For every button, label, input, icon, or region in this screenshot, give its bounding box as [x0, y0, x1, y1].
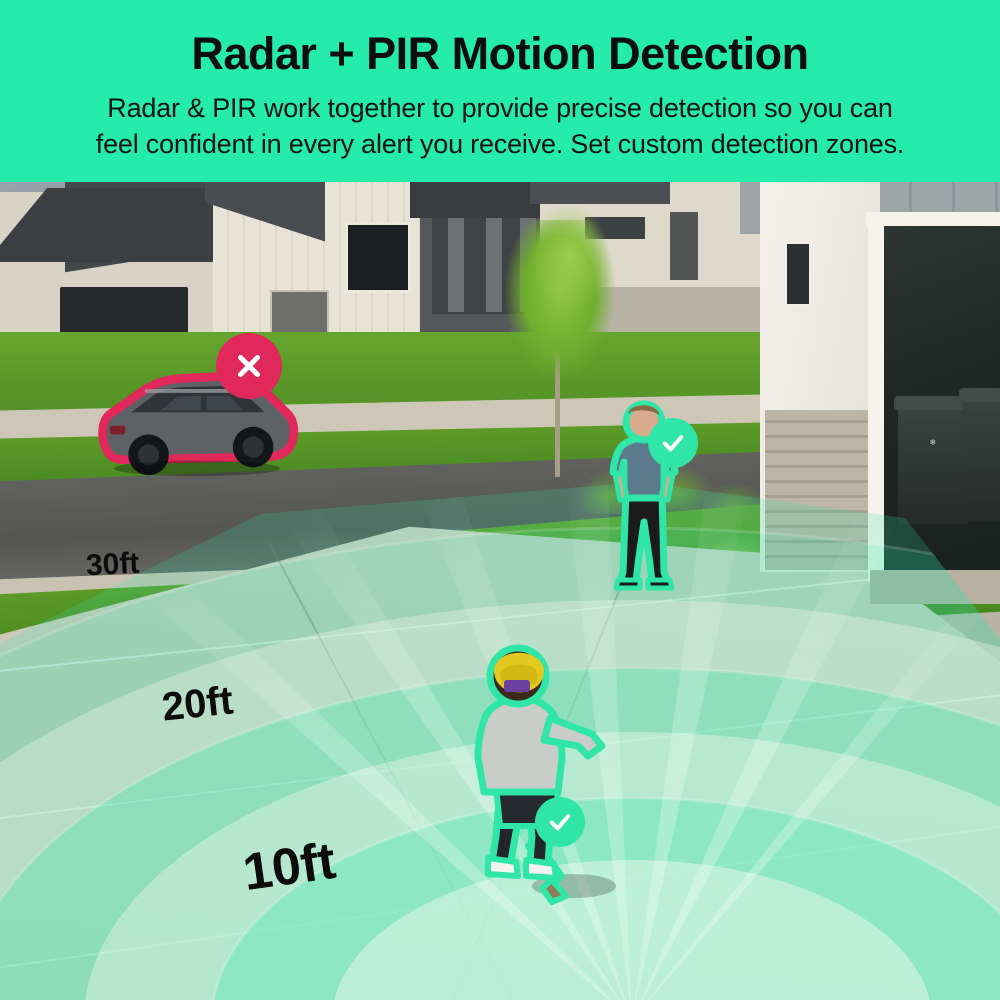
garage-door-header: [866, 212, 1000, 226]
house-middle-window: [345, 222, 411, 293]
trash-bin-lid-2: [959, 388, 1000, 402]
distance-label-20ft: 20ft: [160, 678, 235, 730]
page-title: Radar + PIR Motion Detection: [0, 28, 1000, 80]
porch-column-1: [448, 212, 464, 312]
person-child-outline: [466, 640, 618, 920]
accepted-badge-person-adult[interactable]: [648, 418, 698, 468]
tree-canopy-upper: [530, 202, 610, 312]
distance-label-10ft: 10ft: [239, 831, 339, 903]
camera-scene: ❄: [0, 182, 1000, 1000]
house-far-right-door: [670, 212, 698, 280]
rejected-badge-vehicle[interactable]: [216, 333, 282, 399]
bin-logo-1: ❄: [898, 438, 968, 448]
promo-graphic: Radar + PIR Motion Detection Radar & PIR…: [0, 0, 1000, 1000]
header-banner: Radar + PIR Motion Detection Radar & PIR…: [0, 0, 1000, 182]
garage-stone-veneer: [765, 410, 870, 570]
wall-sconce: [785, 242, 811, 306]
subtitle-line-1: Radar & PIR work together to provide pre…: [18, 90, 982, 126]
page-subtitle: Radar & PIR work together to provide pre…: [18, 90, 982, 162]
subtitle-line-2: feel confident in every alert you receiv…: [18, 126, 982, 162]
house-far-right-roof: [530, 182, 670, 204]
detected-person-child[interactable]: [466, 640, 618, 918]
check-icon: [546, 808, 574, 836]
trash-bin-1: ❄: [898, 404, 968, 524]
garage-door-jamb: [868, 212, 884, 582]
distance-label-30ft: 30ft: [85, 547, 140, 584]
porch-column-2: [486, 212, 502, 312]
garage-apron: [870, 570, 1000, 604]
accepted-badge-person-child[interactable]: [535, 797, 585, 847]
trash-bin-2: [963, 396, 1000, 522]
x-icon: [232, 349, 266, 383]
check-icon: [659, 429, 687, 457]
